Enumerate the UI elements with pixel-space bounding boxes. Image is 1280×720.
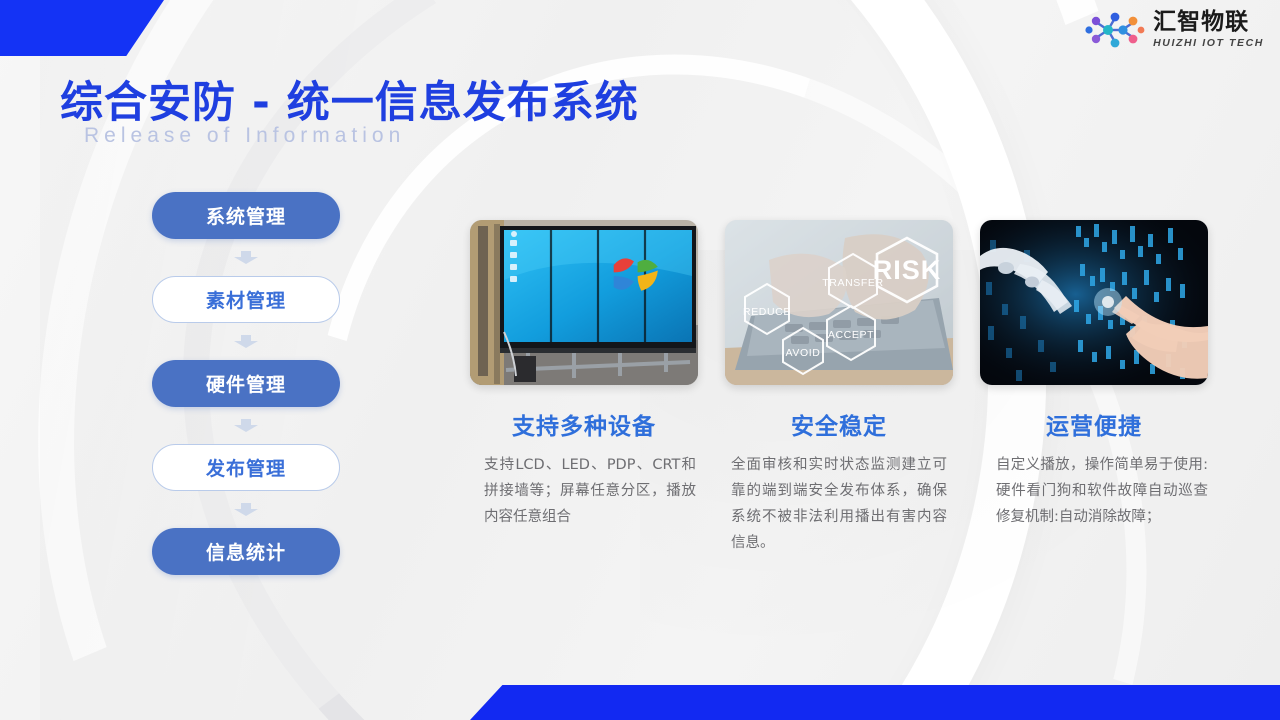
flow-step-publish-management[interactable]: 发布管理 [152,444,340,491]
svg-text:ACCEPT: ACCEPT [828,329,874,341]
arrow-down-icon [233,419,259,432]
flow-step-label: 系统管理 [206,202,286,229]
flow-step-system-management[interactable]: 系统管理 [152,192,340,239]
flow-step-label: 信息统计 [206,538,286,565]
logo-name-cn: 汇智物联 [1153,11,1264,34]
bottom-right-accent-shape [470,685,1280,720]
feature-card: 支持多种设备 支持LCD、LED、PDP、CRT和拼接墙等；屏幕任意分区，播放内… [470,220,698,556]
flow-step-information-statistics[interactable]: 信息统计 [152,528,340,575]
feature-card-body: 自定义播放，操作简单易于使用:硬件看门狗和软件故障自动巡查修复机制:自动消除故障… [980,452,1208,530]
arrow-down-icon [233,335,259,348]
robot-human-hand-photo [980,220,1208,385]
slide-canvas: 汇智物联 HUIZHI IOT TECH 综合安防 - 统一信息发布系统 Rel… [0,0,1280,720]
feature-card-list: 支持多种设备 支持LCD、LED、PDP、CRT和拼接墙等；屏幕任意分区，播放内… [470,220,1208,556]
flow-step-label: 硬件管理 [206,370,286,397]
feature-card-title: 支持多种设备 [470,407,698,441]
flow-step-label: 发布管理 [206,454,286,481]
molecular-network-icon [1084,10,1146,50]
flow-step-label: 素材管理 [206,286,286,313]
top-left-accent-shape [0,0,164,56]
feature-card-body: 支持LCD、LED、PDP、CRT和拼接墙等；屏幕任意分区，播放内容任意组合 [470,452,698,530]
page-subtitle: Release of Information [84,124,405,148]
feature-card-body: 全面审核和实时状态监测建立可靠的端到端安全发布体系，确保系统不被非法利用播出有害… [725,452,953,556]
brand-logo: 汇智物联 HUIZHI IOT TECH [1084,10,1264,50]
svg-text:REDUCE: REDUCE [743,306,791,318]
arrow-down-icon [233,503,259,516]
arrow-down-icon [233,251,259,264]
svg-text:TRANSFER: TRANSFER [822,277,883,289]
flow-step-material-management[interactable]: 素材管理 [152,276,340,323]
video-wall-photo [470,220,698,385]
feature-card-title: 运营便捷 [980,407,1208,441]
page-title: 综合安防 - 统一信息发布系统 [60,68,639,130]
flow-step-hardware-management[interactable]: 硬件管理 [152,360,340,407]
logo-name-en: HUIZHI IOT TECH [1153,38,1264,49]
svg-text:AVOID: AVOID [786,347,821,359]
process-flow: 系统管理 素材管理 硬件管理 发布管理 信息统计 [152,192,340,575]
feature-card-title: 安全稳定 [725,407,953,441]
feature-card: 运营便捷 自定义播放，操作简单易于使用:硬件看门狗和软件故障自动巡查修复机制:自… [980,220,1208,556]
risk-management-photo: RISK TRANSFER REDUCE ACCEPT AVOID [725,220,953,385]
feature-card: RISK TRANSFER REDUCE ACCEPT AVOID 安全稳定 全… [725,220,953,556]
